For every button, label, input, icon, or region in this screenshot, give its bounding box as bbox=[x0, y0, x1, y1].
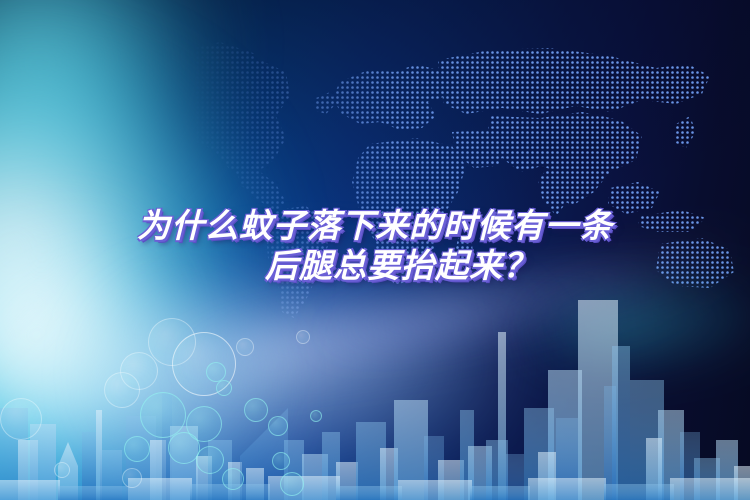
title-line-2: 后腿总要抬起来？ bbox=[0, 246, 750, 286]
title-line-1: 为什么蚊子落下来的时候有一条 bbox=[0, 206, 750, 246]
banner-image: 为什么蚊子落下来的时候有一条 后腿总要抬起来？ bbox=[0, 0, 750, 500]
banner-title: 为什么蚊子落下来的时候有一条 后腿总要抬起来？ bbox=[0, 206, 750, 286]
city-skyline bbox=[0, 290, 750, 500]
